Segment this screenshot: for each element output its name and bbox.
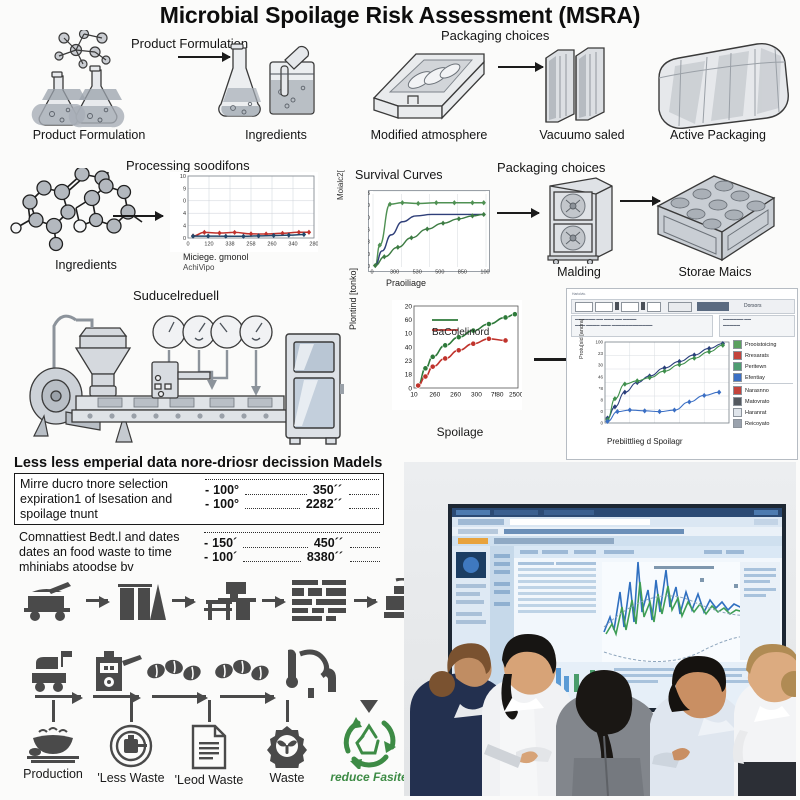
- agv-cart-icon: [30, 649, 86, 693]
- survival-curves-title: Survival Curves: [355, 168, 443, 182]
- arrow-4: [497, 212, 539, 214]
- panel-heading: Less less emperial data nore-driosr deci…: [14, 455, 384, 471]
- flow-label-reduce-waste: reduce Fasite: [330, 771, 407, 785]
- flow-item-leod-waste[interactable]: 'Leod Waste: [170, 700, 248, 787]
- value-pair: - 100´ 8380´´: [204, 550, 380, 564]
- value-left: 100°: [213, 497, 239, 511]
- legend-swatch: [733, 419, 742, 428]
- document-icon: [189, 724, 229, 770]
- beans-icon-2: [214, 657, 280, 689]
- svg-text:100: 100: [595, 340, 603, 345]
- beans-icon: [146, 657, 212, 689]
- recycle-icon: [338, 713, 400, 769]
- connector-stem: [130, 700, 133, 722]
- legend-item[interactable]: Narasnno: [733, 383, 793, 396]
- svg-text:7f80: 7f80: [491, 392, 504, 399]
- dashboard-toolbar[interactable]: Dorsors: [571, 299, 795, 314]
- caption-product-formulation: Product Formulation: [14, 128, 164, 142]
- dashboard-side-box[interactable]: ▬▬▬▬▬▬ ▬▬ ▬▬▬▬▬: [719, 315, 795, 337]
- processing-chart-xlabel: Miciege. gmonol: [183, 252, 249, 262]
- caption-ingredients-2: Ingredients: [16, 258, 156, 272]
- svg-text:60: 60: [405, 317, 413, 324]
- legend-item[interactable]: Peritewn: [733, 361, 793, 372]
- survival-curves-xlabel: Praoiliage: [386, 278, 426, 288]
- legend-item[interactable]: Rresarats: [733, 350, 793, 361]
- caption-active-packaging: Active Packaging: [640, 128, 796, 142]
- legend-label: Prooistoicing: [745, 342, 777, 348]
- dashboard-xlabel: Prebiittlieg d Spoilagr: [607, 437, 683, 446]
- svg-text:*8: *8: [599, 386, 604, 391]
- tray-package-icon: [364, 40, 494, 130]
- value-right: 350´´: [313, 483, 342, 497]
- production-line-icon: [14, 300, 344, 448]
- legend-item[interactable]: Prooistoicing: [733, 339, 793, 350]
- svg-text:46: 46: [598, 374, 604, 379]
- svg-text:23: 23: [405, 358, 413, 365]
- caption-vacuum-sealed: Vacuumo saled: [512, 128, 652, 142]
- infographic-page: Microbial Spoilage Risk Assessment (MSRA…: [0, 0, 800, 800]
- legend-label: Haranrat: [745, 410, 766, 416]
- connector-stem: [208, 700, 211, 722]
- legend-item[interactable]: Efentiay: [733, 372, 793, 383]
- value-pair: - 100° 2282´´: [205, 497, 379, 511]
- svg-text:20: 20: [405, 303, 413, 310]
- svg-text:23: 23: [598, 351, 604, 356]
- flow-item-reduce-waste[interactable]: reduce Fasite: [326, 700, 412, 785]
- processing-chart: [170, 172, 318, 252]
- warehouse-shelf-icon: [290, 578, 348, 622]
- legend-swatch: [733, 340, 742, 349]
- legend-item[interactable]: Haranrat: [733, 407, 793, 418]
- flow-label-production: Production: [23, 767, 83, 781]
- caption-malding: Malding: [524, 265, 634, 279]
- flow-item-less-waste[interactable]: 'Less Waste: [92, 700, 170, 785]
- robot-arm-icon: [282, 648, 344, 698]
- spoilage-chart-xlabel: Spoilage: [395, 425, 525, 439]
- flow-arrow: [35, 695, 81, 698]
- flow-arrow: [93, 695, 139, 698]
- svg-text:10: 10: [410, 392, 418, 399]
- flow-item-waste[interactable]: Waste: [248, 700, 326, 785]
- svg-text:40: 40: [405, 344, 413, 351]
- legend-item[interactable]: Matovrato: [733, 396, 793, 407]
- legend-swatch: [733, 386, 742, 395]
- toolbar-label: Dorsors: [744, 303, 762, 309]
- flow-arrow: [354, 599, 376, 602]
- arrow-3: [113, 215, 163, 217]
- flow-label-waste: Waste: [270, 771, 305, 785]
- survival-curves-chart: [368, 190, 490, 272]
- toolbar-highlight[interactable]: [697, 302, 729, 311]
- caption-ingredients-1: Ingredients: [196, 128, 356, 142]
- decision-models-panel: Less less emperial data nore-driosr deci…: [14, 455, 384, 578]
- caption-modified-atmosphere: Modified atmosphere: [351, 128, 507, 142]
- caption-storage: Storae Maics: [645, 265, 785, 279]
- value-left: 100°: [213, 483, 239, 497]
- dashboard-ylabel: Protu[sid [andra]: [579, 319, 585, 359]
- workstation-icon: [200, 578, 256, 622]
- value-right: 2282´´: [306, 497, 342, 511]
- legend-swatch: [733, 351, 742, 360]
- value-right: 8380´´: [307, 550, 343, 564]
- crate-tray-icon: [650, 170, 780, 266]
- flow-label-less-waste: 'Less Waste: [97, 771, 164, 785]
- legend-swatch: [733, 397, 742, 406]
- dashboard-chart: 008*8463023100: [589, 339, 731, 433]
- vacuum-pack-icon: [530, 44, 620, 128]
- legend-label: Efentiay: [745, 375, 765, 381]
- toolbar-buttons[interactable]: [575, 302, 692, 312]
- beaker-flask-icon: [215, 40, 335, 128]
- dashboard-title: Hariolvtc.: [572, 292, 586, 296]
- icon-flow-row-a: [22, 578, 440, 622]
- connector-stem: [52, 700, 55, 722]
- page-title: Microbial Spoilage Risk Assessment (MSRA…: [0, 2, 800, 29]
- down-arrow-icon: [360, 700, 378, 713]
- target-circle-icon: [108, 724, 154, 768]
- value-pair: - 150´ 450´´: [204, 536, 380, 550]
- flow-label-leod-waste: 'Leod Waste: [175, 773, 244, 787]
- legend-swatch: [733, 362, 742, 371]
- spoilage-chart: 102602603007f80250000182340106020: [392, 300, 522, 410]
- legend-label: Rresarats: [745, 353, 769, 359]
- dashboard-panel[interactable]: Hariolvtc. Dorsors ▬▬▬▬▬▬ ▬▬ ▬▬▬ ▬▬ ▬▬▬▬…: [566, 288, 798, 460]
- connector-stem: [286, 700, 289, 722]
- icon-flow-row-c: Production 'Less Waste: [14, 700, 412, 787]
- icon-flow-row-b: [30, 648, 344, 698]
- processing-chart-xlabel2: AchiVipo: [183, 263, 214, 272]
- svg-text:260: 260: [450, 392, 461, 399]
- legend-label: Reicoyato: [745, 421, 769, 427]
- panel-row-2-values: - 150´ 450´´ - 100´ 8380´´: [204, 530, 380, 564]
- legend-swatch: [733, 408, 742, 417]
- legend-label: Narasnno: [745, 388, 769, 394]
- mixer-machine-icon: [88, 649, 144, 693]
- svg-text:260: 260: [429, 392, 440, 399]
- svg-text:30: 30: [598, 363, 604, 368]
- svg-text:18: 18: [405, 372, 413, 379]
- flow-arrow: [262, 599, 284, 602]
- pouch-package-icon: [645, 36, 795, 132]
- flow-item-production[interactable]: Production: [14, 700, 92, 781]
- value-left: 100´: [212, 550, 237, 564]
- value-pair: - 100° 350´´: [205, 483, 379, 497]
- svg-text:10: 10: [405, 331, 413, 338]
- flow-arrow: [152, 695, 206, 698]
- dashboard-legend: ProoistoicingRresaratsPeritewnEfentiayNa…: [733, 339, 793, 429]
- legend-label: Matovrato: [745, 399, 769, 405]
- flasks-icon: [26, 30, 156, 130]
- panel-row-1-values: - 100° 350´´ - 100° 2282´´: [205, 477, 379, 511]
- value-right: 450´´: [314, 536, 343, 550]
- legend-swatch: [733, 373, 742, 382]
- flow-arrow: [220, 695, 274, 698]
- survival-curves-ylabel: Moialc2[: [336, 130, 345, 200]
- svg-text:0: 0: [408, 385, 412, 392]
- flow-arrow: [86, 599, 108, 602]
- dot-separator: [205, 479, 379, 480]
- bowl-food-icon: [25, 726, 81, 764]
- flow-arrow: [172, 599, 194, 602]
- panel-row-2: Comnattiest Bedt.l and dates dates an fo…: [14, 527, 384, 577]
- molecule-icon: [10, 168, 150, 258]
- delivery-truck-icon: [22, 578, 80, 622]
- oven-cabinet-icon: [538, 172, 622, 264]
- dot-separator: [204, 532, 380, 533]
- panel-row-2-text: Comnattiest Bedt.l and dates dates an fo…: [19, 530, 204, 574]
- spoilage-chart-ylabel: Plontind [tonko]: [348, 268, 358, 330]
- panel-row-1: Mirre ducro tnore selection expiration1 …: [14, 473, 384, 525]
- spoilage-chart-legend-entry: BaColelinord: [432, 327, 489, 338]
- panel-row-1-text: Mirre ducro tnore selection expiration1 …: [20, 477, 205, 521]
- meeting-photo: [404, 462, 796, 796]
- silo-tanks-icon: [114, 578, 166, 622]
- legend-label: Peritewn: [745, 364, 766, 370]
- svg-text:25000: 25000: [509, 392, 522, 399]
- value-left: 150´: [212, 536, 237, 550]
- legend-item[interactable]: Reicoyato: [733, 418, 793, 429]
- gear-sprout-icon: [263, 724, 311, 768]
- dashboard-filter-rows[interactable]: ▬▬▬▬▬▬ ▬▬ ▬▬▬ ▬▬ ▬▬▬▬ ▬▬▬ ▬▬▬▬ ▬▬▬ ▬▬▬▬▬…: [571, 315, 713, 337]
- svg-text:300: 300: [471, 392, 482, 399]
